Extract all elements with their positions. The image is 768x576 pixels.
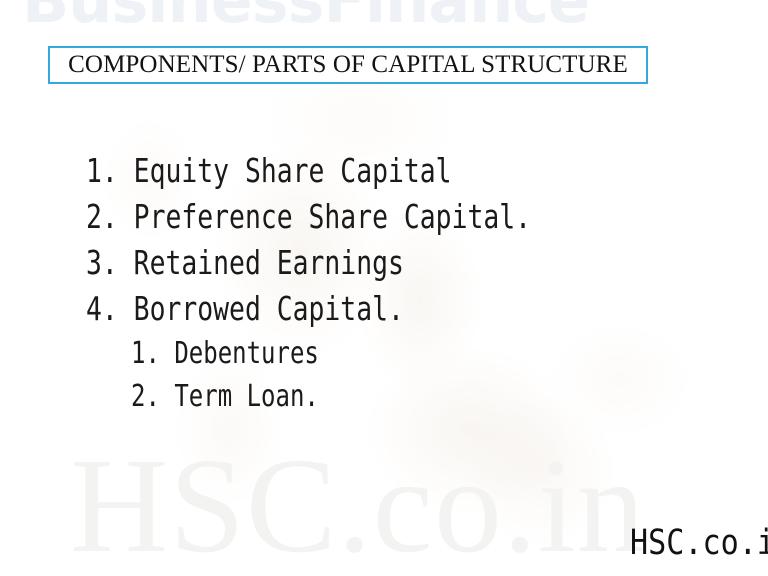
watermark-hsc-large: HSC.co.in: [70, 438, 646, 574]
watermark-businessfinance: BusinessFinance: [22, 0, 589, 32]
content-list: 1. Equity Share Capital 2. Preference Sh…: [86, 148, 706, 418]
list-item: 3. Retained Earnings: [86, 240, 582, 286]
footer-branding: HSC.co.in: [630, 522, 768, 564]
list-item: 2. Preference Share Capital.: [86, 194, 582, 240]
list-item: 4. Borrowed Capital.: [86, 286, 582, 332]
list-item: 1. Equity Share Capital: [86, 148, 582, 194]
list-sub-item: 2. Term Loan.: [131, 375, 591, 418]
list-sub-item: 1. Debentures: [131, 332, 591, 375]
slide-canvas: BusinessFinance HSC.co.in COMPONENTS/ PA…: [0, 0, 768, 576]
slide-title-box: COMPONENTS/ PARTS OF CAPITAL STRUCTURE: [48, 46, 648, 84]
slide-title: COMPONENTS/ PARTS OF CAPITAL STRUCTURE: [68, 51, 628, 79]
